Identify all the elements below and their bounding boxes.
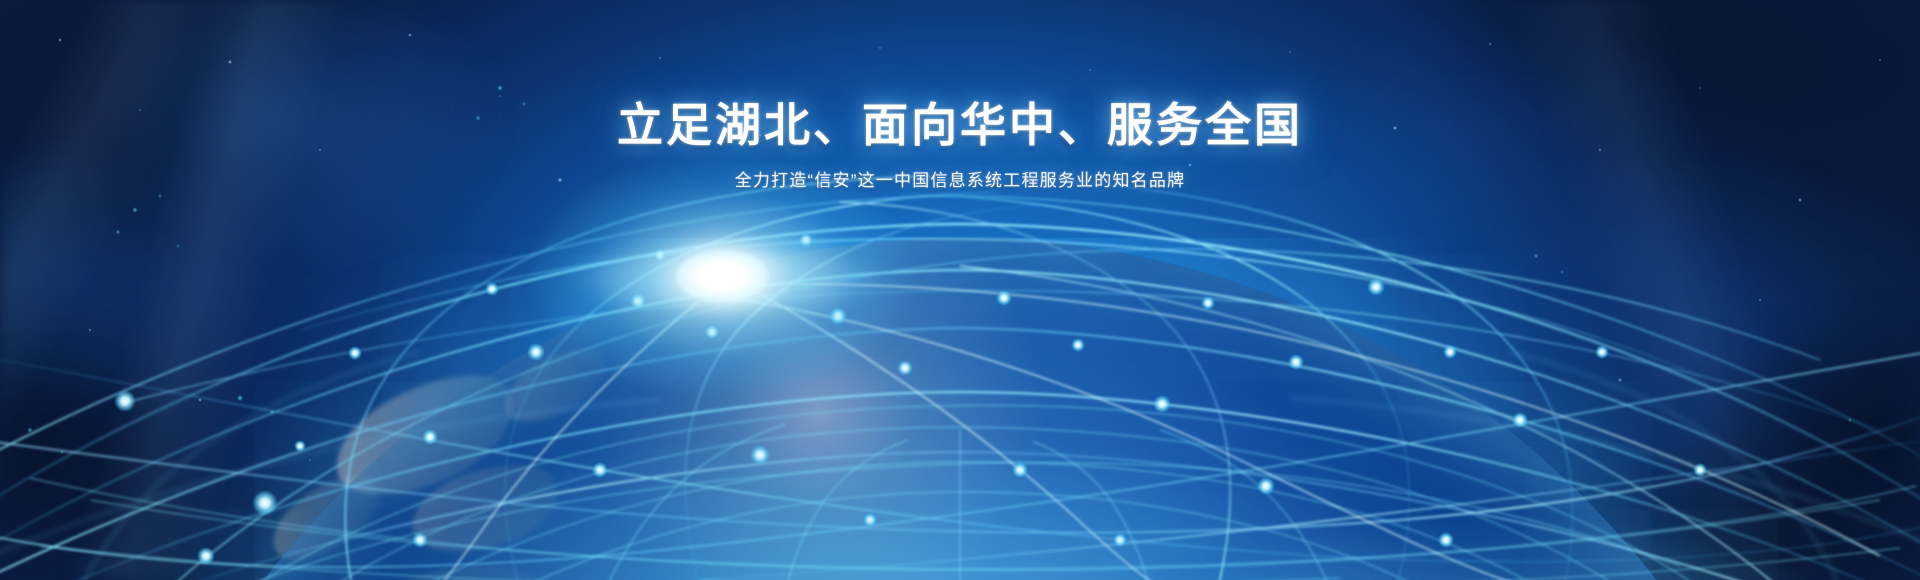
globe (80, 238, 1840, 580)
hero-banner: 立足湖北、面向华中、服务全国 全力打造“信安”这一中国信息系统工程服务业的知名品… (0, 0, 1920, 580)
globe-shading (80, 238, 1840, 580)
banner-subheadline: 全力打造“信安”这一中国信息系统工程服务业的知名品牌 (0, 168, 1920, 194)
banner-copy: 立足湖北、面向华中、服务全国 全力打造“信安”这一中国信息系统工程服务业的知名品… (0, 96, 1920, 194)
landmass-shape (493, 334, 616, 437)
globe-atmosphere (80, 238, 1840, 580)
globe-sphere (80, 238, 1840, 580)
space-background (0, 0, 1920, 580)
globe-rim-light (80, 238, 1840, 580)
core-lens-flare (562, 252, 892, 304)
landmass-shape (367, 554, 547, 580)
landmass-shape (319, 351, 532, 521)
landmass-shape (402, 449, 569, 570)
globe-face-glow (0, 280, 1920, 580)
banner-headline: 立足湖北、面向华中、服务全国 (0, 96, 1920, 154)
star-cluster (0, 0, 1920, 580)
nebula-blue-clouds (0, 0, 1920, 580)
milky-streaks (0, 0, 1920, 580)
network-mesh (0, 0, 1920, 580)
network-nodes (114, 233, 1707, 565)
landmass-shape (259, 460, 392, 577)
nebula-dark-clouds (0, 0, 1920, 580)
nebula-vignette (0, 0, 1920, 580)
starfield (0, 0, 1920, 580)
